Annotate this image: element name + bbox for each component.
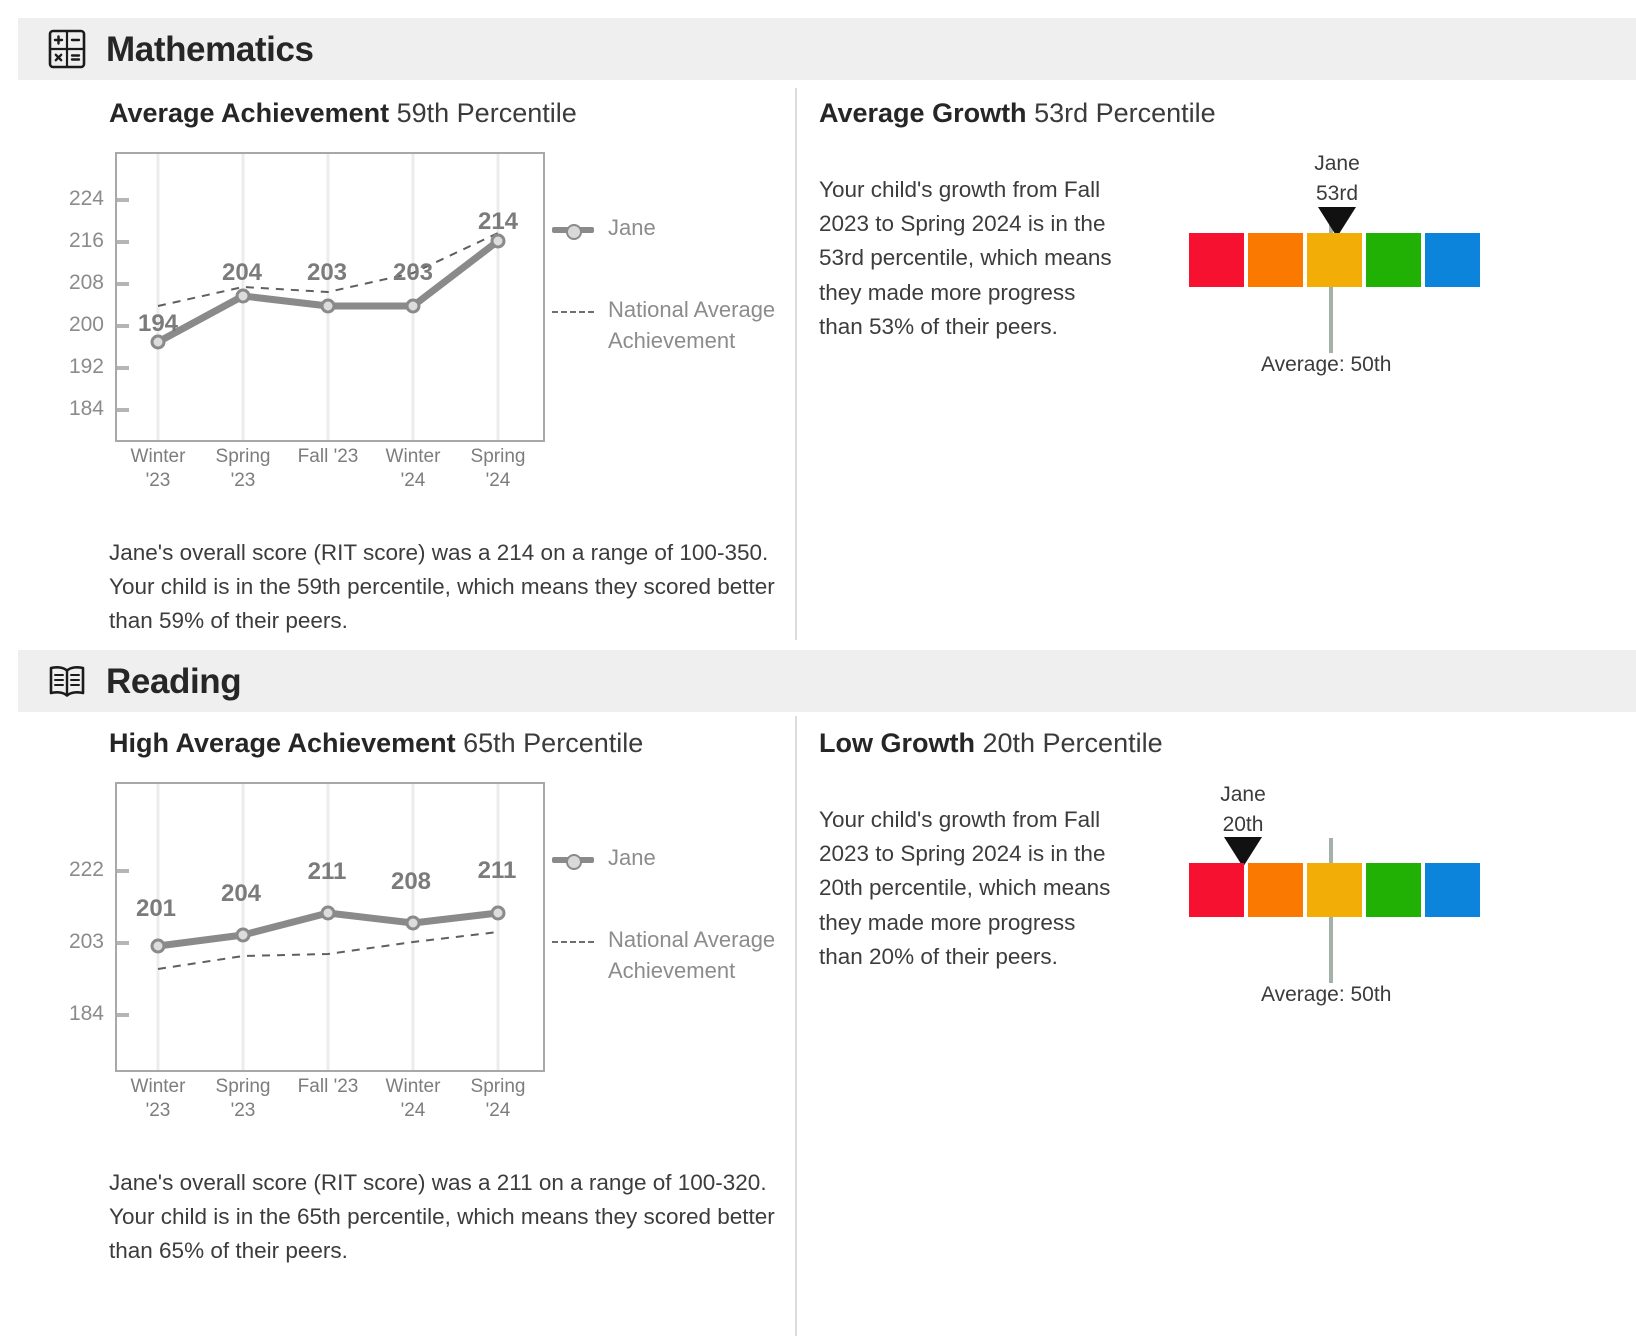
legend-label: National Average Achievement (608, 924, 788, 986)
reading-growth-heading-rest: 20th Percentile (975, 728, 1163, 758)
calculator-icon (46, 28, 88, 70)
reading-xtick-label: Fall '23 (284, 1075, 372, 1099)
math-growth-heading: Average Growth 53rd Percentile (819, 98, 1216, 129)
math-ytick-label: 192 (40, 355, 104, 379)
reading-xtick-label: Winter'23 (114, 1075, 202, 1123)
legend-solid-line-icon (552, 848, 594, 872)
math-growth-summary: Your child's growth from Fall 2023 to Sp… (819, 173, 1119, 344)
reading-legend-item-jane: Jane (552, 842, 656, 873)
legend-label: Jane (608, 212, 656, 243)
marker-name: Jane (1220, 783, 1266, 806)
reading-point-label: 201 (114, 895, 198, 923)
math-point-label: 203 (371, 259, 455, 287)
math-point-label: 194 (116, 310, 200, 338)
marker-value: 53rd (1316, 182, 1358, 205)
math-column-divider (795, 88, 797, 640)
marker-name: Jane (1314, 152, 1360, 175)
growth-band-high-average (1366, 863, 1421, 917)
section-header-mathematics: Mathematics (18, 18, 1636, 80)
math-ytick-label: 208 (40, 271, 104, 295)
math-ytick-mark (117, 408, 129, 412)
legend-solid-line-icon (552, 218, 594, 242)
reading-point-label: 211 (455, 857, 539, 885)
math-achievement-heading-rest: 59th Percentile (389, 98, 577, 128)
growth-band-average (1307, 863, 1362, 917)
growth-band-high (1425, 233, 1480, 287)
math-growth-heading-bold: Average Growth (819, 98, 1027, 128)
math-achievement-heading-bold: Average Achievement (109, 98, 389, 128)
math-legend-item-national: National Average Achievement (552, 294, 788, 356)
growth-band-low-average (1248, 863, 1303, 917)
math-ytick-label: 216 (40, 229, 104, 253)
math-ytick-label: 224 (40, 187, 104, 211)
math-achievement-summary: Jane's overall score (RIT score) was a 2… (109, 536, 789, 639)
growth-band-low (1189, 233, 1244, 287)
open-book-icon (46, 660, 88, 702)
reading-average-label: Average: 50th (1261, 983, 1391, 1007)
reading-plot-svg (117, 784, 543, 1070)
growth-band-high (1425, 863, 1480, 917)
reading-achievement-summary: Jane's overall score (RIT score) was a 2… (109, 1166, 789, 1269)
reading-point-label: 208 (369, 868, 453, 896)
math-growth-heading-rest: 53rd Percentile (1027, 98, 1216, 128)
reading-point-label: 211 (285, 858, 369, 886)
math-ytick-mark (117, 198, 129, 202)
math-xtick-label: Spring'23 (199, 445, 287, 493)
math-xtick-label: Fall '23 (284, 445, 372, 469)
math-ytick-mark (117, 282, 129, 286)
math-ytick-label: 200 (40, 313, 104, 337)
reading-xtick-label: Spring'23 (199, 1075, 287, 1123)
reading-legend-item-national: National Average Achievement (552, 924, 788, 986)
legend-label: National Average Achievement (608, 294, 788, 356)
legend-label: Jane (608, 842, 656, 873)
math-xtick-label: Winter'24 (369, 445, 457, 493)
report-page: Mathematics Average Achievement 59th Per… (0, 0, 1636, 1336)
growth-band-average (1307, 233, 1362, 287)
reading-plot-area (115, 782, 545, 1072)
math-average-label: Average: 50th (1261, 353, 1391, 377)
math-plot-svg (117, 154, 543, 440)
reading-achievement-heading-rest: 65th Percentile (456, 728, 644, 758)
math-xtick-label: Winter'23 (114, 445, 202, 493)
reading-ytick-label: 203 (40, 930, 104, 954)
math-point-label: 204 (200, 259, 284, 287)
reading-growth-summary: Your child's growth from Fall 2023 to Sp… (819, 803, 1119, 974)
reading-achievement-heading: High Average Achievement 65th Percentile (109, 728, 643, 759)
section-title: Mathematics (106, 32, 314, 67)
reading-achievement-heading-bold: High Average Achievement (109, 728, 456, 758)
reading-point-label: 204 (199, 880, 283, 908)
math-ytick-label: 184 (40, 397, 104, 421)
reading-ytick-label: 184 (40, 1002, 104, 1026)
math-point-label: 214 (456, 208, 540, 236)
reading-ytick-label: 222 (40, 858, 104, 882)
reading-xtick-label: Spring'24 (454, 1075, 542, 1123)
section-header-reading: Reading (18, 650, 1636, 712)
legend-dashed-line-icon (552, 300, 594, 324)
reading-column-divider (795, 716, 797, 1336)
reading-ytick-mark (117, 941, 129, 945)
math-xtick-label: Spring'24 (454, 445, 542, 493)
math-achievement-heading: Average Achievement 59th Percentile (109, 98, 577, 129)
reading-growth-marker-label: Jane20th (1183, 780, 1303, 841)
growth-band-low-average (1248, 233, 1303, 287)
math-legend-item-jane: Jane (552, 212, 656, 243)
legend-dashed-line-icon (552, 930, 594, 954)
reading-growth-heading: Low Growth 20th Percentile (819, 728, 1163, 759)
math-ytick-mark (117, 240, 129, 244)
section-title: Reading (106, 664, 241, 699)
reading-ytick-mark (117, 869, 129, 873)
reading-growth-band-bars (1189, 863, 1480, 917)
reading-xtick-label: Winter'24 (369, 1075, 457, 1123)
growth-band-low (1189, 863, 1244, 917)
math-ytick-mark (117, 366, 129, 370)
math-point-label: 203 (285, 259, 369, 287)
math-growth-band-bars (1189, 233, 1480, 287)
reading-growth-heading-bold: Low Growth (819, 728, 975, 758)
reading-ytick-mark (117, 1013, 129, 1017)
math-plot-area (115, 152, 545, 442)
growth-band-high-average (1366, 233, 1421, 287)
marker-value: 20th (1223, 813, 1264, 836)
math-growth-marker-label: Jane53rd (1277, 149, 1397, 210)
